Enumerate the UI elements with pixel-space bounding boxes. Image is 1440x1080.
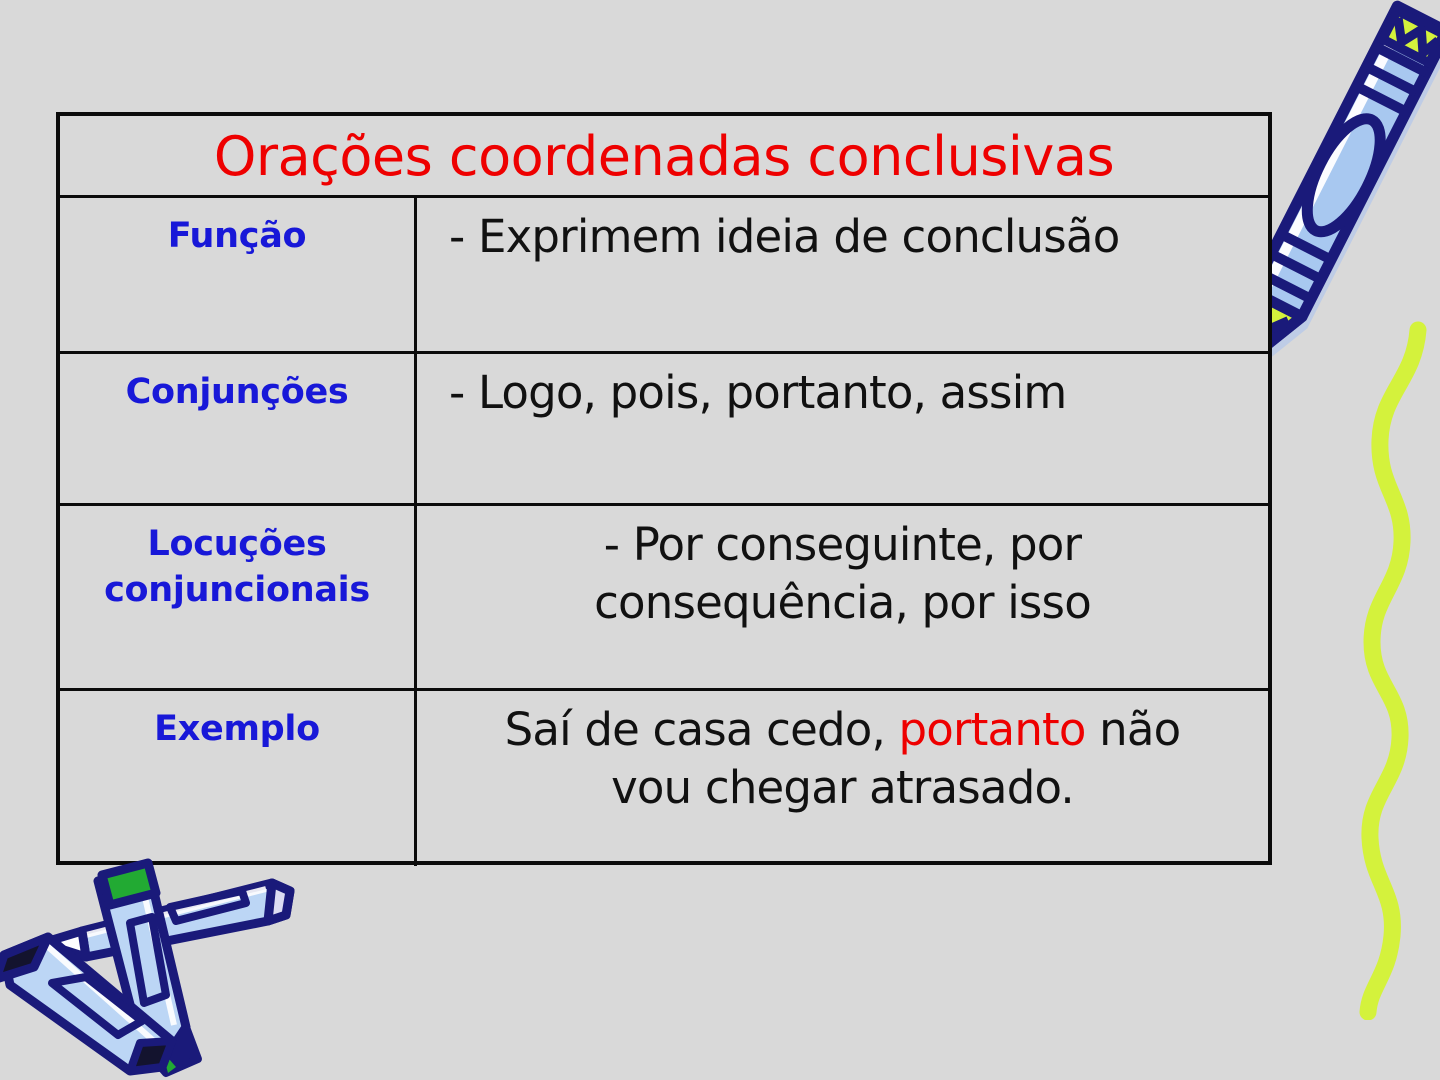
row-value-funcao: - Exprimem ideia de conclusão [417,208,1268,266]
row-label-locucoes-line2: conjuncionais [104,570,370,610]
row-value-locucoes-line1: - Por conseguinte, por [604,518,1081,571]
pencils-icon [0,845,320,1080]
row-value-locucoes-line2: consequência, por isso [594,576,1091,629]
row-label-funcao: Função [168,214,307,260]
example-highlight-portanto: portanto [899,703,1086,756]
table-row: Função - Exprimem ideia de conclusão [60,198,1268,354]
row-label-locucoes-line1: Locuções [148,524,327,564]
slide-canvas: Orações coordenadas conclusivas Função -… [0,0,1440,1080]
row-label-exemplo: Exemplo [154,707,320,753]
row-value-locucoes: - Por conseguinte, por consequência, por… [417,516,1268,631]
row-label-cell: Exemplo [60,691,417,866]
page-title: Orações coordenadas conclusivas [60,116,1268,198]
example-text-after: não [1086,703,1181,756]
row-value-cell: - Por conseguinte, por consequência, por… [417,506,1268,688]
table-row: Exemplo Saí de casa cedo, portanto não v… [60,691,1268,866]
example-text-line2: vou chegar atrasado. [611,761,1074,814]
row-label-conjuncoes: Conjunções [126,370,349,416]
scribble-line-icon [1330,320,1440,1020]
row-label-locucoes: Locuções conjuncionais [104,522,370,613]
row-value-cell: - Exprimem ideia de conclusão [417,198,1268,351]
row-value-cell: Saí de casa cedo, portanto não vou chega… [417,691,1268,866]
table-title-row: Orações coordenadas conclusivas [60,116,1268,198]
table-row: Conjunções - Logo, pois, portanto, assim [60,354,1268,506]
row-value-conjuncoes: - Logo, pois, portanto, assim [417,364,1268,422]
content-table: Orações coordenadas conclusivas Função -… [56,112,1272,865]
row-label-cell: Função [60,198,417,351]
table-row: Locuções conjuncionais - Por conseguinte… [60,506,1268,691]
row-label-cell: Locuções conjuncionais [60,506,417,688]
row-value-exemplo: Saí de casa cedo, portanto não vou chega… [417,701,1268,816]
row-label-cell: Conjunções [60,354,417,503]
example-text-before: Saí de casa cedo, [505,703,899,756]
row-value-cell: - Logo, pois, portanto, assim [417,354,1268,503]
